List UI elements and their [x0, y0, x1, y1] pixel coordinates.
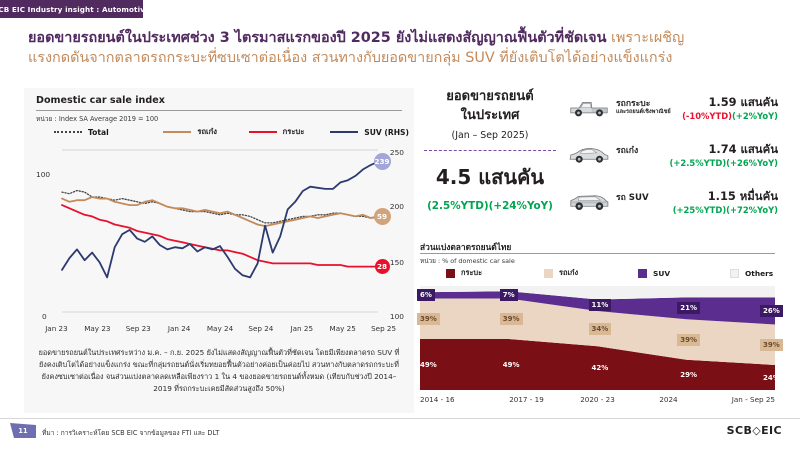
footer-divider: [0, 418, 800, 419]
headline-line-2: แรงกดดันจากตลาดรถกระบะที่ซบเซาต่อเนื่อง …: [28, 49, 780, 69]
x-axis-tick: May 25: [322, 324, 363, 333]
line-chart-card: Domestic car sale index หน่วย : Index SA…: [24, 88, 414, 413]
area-data-label: 29%: [677, 369, 700, 381]
y-axis-left-tick: 100: [36, 170, 50, 179]
page-number: 11: [10, 424, 36, 437]
endpoint-label-sedan: 59: [374, 208, 391, 225]
segment-delta-ytd: (-10%YTD): [682, 111, 732, 121]
area-data-label: 21%: [677, 302, 700, 314]
legend-label: Total: [88, 128, 109, 137]
segment-delta: (+2.5%YTD)(+26%YoY): [670, 158, 778, 168]
sales-summary-panel: ยอดขายรถยนต์ ในประเทศ (Jan – Sep 2025) 4…: [420, 88, 780, 236]
legend-label: รถเก๋ง: [559, 267, 578, 279]
y-axis-right-tick: 200: [390, 202, 404, 211]
area-data-label: 26%: [760, 305, 783, 317]
analysis-note: ยอดขายรถยนต์ในประเทศระหว่าง ม.ค. – ก.ย. …: [38, 340, 400, 402]
divider: [424, 150, 556, 151]
segment-delta-yoy: (+2%YoY): [732, 111, 778, 121]
y-axis-right-tick: 250: [390, 148, 404, 157]
analysis-note-text: ยอดขายรถยนต์ในประเทศระหว่าง ม.ค. – ก.ย. …: [38, 347, 400, 394]
segment-value: 1.15 หมื่นคัน: [708, 188, 778, 206]
area-data-label: 42%: [589, 362, 612, 374]
legend-swatch-icon: [249, 131, 277, 133]
summary-heading-line1: ยอดขายรถยนต์: [420, 88, 560, 107]
area-data-label: 39%: [500, 313, 523, 325]
area-data-label: 11%: [589, 299, 612, 311]
source-note: ที่มา : การวิเคราะห์โดย SCB EIC จากข้อมู…: [42, 427, 219, 438]
area-data-label: 49%: [500, 359, 523, 371]
segment-value: 1.59 แสนคัน: [708, 94, 778, 112]
line-chart-unit: หน่วย : Index SA Average 2019 = 100: [36, 113, 158, 124]
x-axis-tick: 2014 - 16: [420, 395, 491, 404]
legend-item-others: Others: [730, 267, 773, 279]
summary-period: (Jan – Sep 2025): [420, 130, 560, 141]
slide-page: SCB EIC Industry insight : Automotive ยอ…: [0, 0, 800, 450]
area-data-label: 6%: [417, 289, 435, 301]
headline-line-1: ยอดขายรถยนต์ในประเทศช่วง 3 ไตรมาสแรกของป…: [28, 26, 780, 49]
area-data-label: 39%: [760, 339, 783, 351]
line-chart-plot: 100 0 250 200 150 100 239 59 28: [36, 146, 404, 324]
area-chart-unit: หน่วย : % of domestic car sale: [420, 256, 515, 266]
endpoint-label-pickup: 28: [375, 259, 390, 274]
area-chart-plot: 49%49%42%29%24%39%39%34%39%39%6%7%11%21%…: [420, 282, 775, 392]
segment-value: 1.74 แสนคัน: [708, 141, 778, 159]
x-axis-tick: Sep 25: [363, 324, 404, 333]
y-axis-right-tick: 100: [390, 312, 404, 321]
y-axis-right-tick: 150: [390, 258, 404, 267]
segment-delta: (-10%YTD)(+2%YoY): [682, 111, 778, 121]
segment-delta-ytd: (+25%YTD): [673, 205, 726, 215]
line-chart-title: Domestic car sale index: [36, 95, 165, 106]
segment-subname: และรถยนต์เชิงพาณิชย์: [616, 108, 671, 116]
segment-rows: รถกระบะ และรถยนต์เชิงพาณิชย์ 1.59 แสนคัน…: [568, 90, 780, 231]
market-share-panel: ส่วนแบ่งตลาดรถยนต์ไทย หน่วย : % of domes…: [420, 240, 780, 413]
line-chart-svg: [36, 146, 404, 324]
segment-row-pickup: รถกระบะ และรถยนต์เชิงพาณิชย์ 1.59 แสนคัน…: [568, 90, 780, 137]
segment-delta-ytd: (+2.5%YTD): [670, 158, 727, 168]
header-ribbon: SCB EIC Industry insight : Automotive: [0, 0, 143, 18]
total-sales-value: 4.5 แสนคัน: [420, 161, 560, 193]
x-axis-tick: 2017 - 19: [491, 395, 562, 404]
ribbon-label: SCB EIC Industry insight : Automotive: [0, 5, 150, 14]
legend-label: กระบะ: [283, 126, 305, 138]
summary-heading-line2: ในประเทศ: [420, 107, 560, 126]
area-chart-legend: กระบะ รถเก๋ง SUV Others: [446, 267, 776, 279]
segment-name: รถเก๋ง: [616, 143, 638, 157]
y-axis-left-tick: 0: [42, 312, 47, 321]
legend-item-sedan: รถเก๋ง: [544, 267, 638, 279]
segment-row-suv: รถ SUV 1.15 หมื่นคัน (+25%YTD)(+72%YoY): [568, 184, 780, 231]
area-data-label: 49%: [417, 359, 440, 371]
x-axis-tick: Jan 24: [159, 324, 200, 333]
legend-swatch-icon: [638, 269, 647, 278]
legend-label: SUV: [653, 269, 670, 278]
legend-item-suv: SUV: [638, 267, 730, 279]
legend-swatch-icon: [544, 269, 553, 278]
endpoint-label-suv: 239: [374, 153, 391, 170]
area-data-label: 24%: [760, 372, 783, 384]
suv-car-icon: [568, 190, 610, 214]
legend-swatch-icon: [330, 131, 358, 133]
legend-swatch-dotted-icon: [54, 131, 82, 133]
headline-secondary: เพราะเผชิญ: [606, 30, 684, 46]
segment-row-sedan: รถเก๋ง 1.74 แสนคัน (+2.5%YTD)(+26%YoY): [568, 137, 780, 184]
legend-swatch-icon: [446, 269, 455, 278]
scb-eic-logo: SCB◇EIC: [727, 424, 782, 437]
segment-delta-yoy: (+72%YoY): [726, 205, 778, 215]
area-data-label: 34%: [589, 323, 612, 335]
area-data-label: 7%: [500, 289, 518, 301]
legend-item-pickup: กระบะ: [446, 267, 544, 279]
divider: [36, 110, 402, 111]
total-sales-block: ยอดขายรถยนต์ ในประเทศ (Jan – Sep 2025) 4…: [420, 88, 560, 212]
legend-item-pickup: กระบะ: [249, 126, 331, 138]
x-axis-tick: Sep 24: [240, 324, 281, 333]
x-axis-tick: 2024: [633, 395, 704, 404]
x-axis-tick: 2020 - 23: [562, 395, 633, 404]
legend-label: กระบะ: [461, 267, 482, 279]
x-axis-tick: May 24: [200, 324, 241, 333]
legend-swatch-icon: [163, 131, 191, 133]
segment-delta: (+25%YTD)(+72%YoY): [673, 205, 778, 215]
x-axis-tick: Jan 25: [281, 324, 322, 333]
x-axis-tick: May 23: [77, 324, 118, 333]
line-chart-legend: Total รถเก๋ง กระบะ SUV (RHS): [54, 126, 409, 138]
legend-item-total: Total: [54, 128, 163, 137]
headline-primary: ยอดขายรถยนต์ในประเทศช่วง 3 ไตรมาสแรกของป…: [28, 30, 606, 46]
sedan-car-icon: [568, 143, 610, 167]
legend-item-suv: SUV (RHS): [330, 128, 409, 137]
line-chart-x-axis: Jan 23May 23Sep 23Jan 24May 24Sep 24Jan …: [36, 324, 404, 333]
x-axis-tick: Jan - Sep 25: [704, 395, 775, 404]
page-title: ยอดขายรถยนต์ในประเทศช่วง 3 ไตรมาสแรกของป…: [28, 26, 780, 69]
x-axis-tick: Jan 23: [36, 324, 77, 333]
area-chart-title: ส่วนแบ่งตลาดรถยนต์ไทย: [420, 240, 511, 254]
total-sales-delta: (2.5%YTD)(+24%YoY): [420, 200, 560, 212]
legend-label: รถเก๋ง: [197, 126, 217, 138]
legend-label: Others: [745, 269, 773, 278]
legend-label: SUV (RHS): [364, 128, 409, 137]
segment-name: รถ SUV: [616, 190, 649, 204]
legend-item-sedan: รถเก๋ง: [163, 126, 248, 138]
pickup-truck-icon: [568, 96, 610, 120]
segment-delta-yoy: (+26%YoY): [726, 158, 778, 168]
x-axis-tick: Sep 23: [118, 324, 159, 333]
divider: [420, 253, 775, 254]
area-data-label: 39%: [677, 334, 700, 346]
legend-swatch-icon: [730, 269, 739, 278]
area-chart-x-axis: 2014 - 162017 - 192020 - 232024Jan - Sep…: [420, 395, 775, 404]
area-data-label: 39%: [417, 313, 440, 325]
